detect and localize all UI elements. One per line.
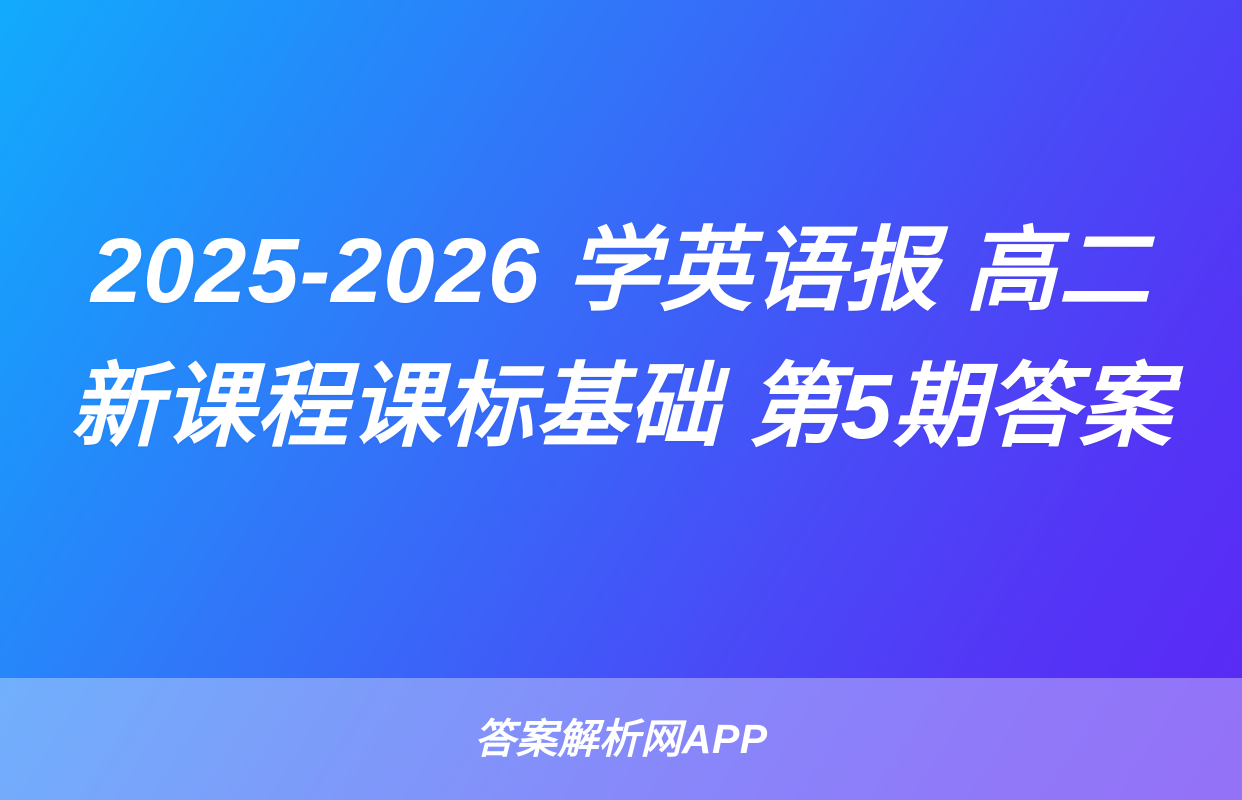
watermark-band: 答案解析网APP (0, 678, 1242, 800)
title-area: 2025-2026 学英语报 高二 新课程课标基础 第5期答案 (0, 0, 1242, 678)
page-title: 2025-2026 学英语报 高二 新课程课标基础 第5期答案 (58, 203, 1184, 475)
answer-title-card: 2025-2026 学英语报 高二 新课程课标基础 第5期答案 答案解析网APP (0, 0, 1242, 800)
watermark-brand-label: 答案解析网APP (474, 719, 767, 760)
